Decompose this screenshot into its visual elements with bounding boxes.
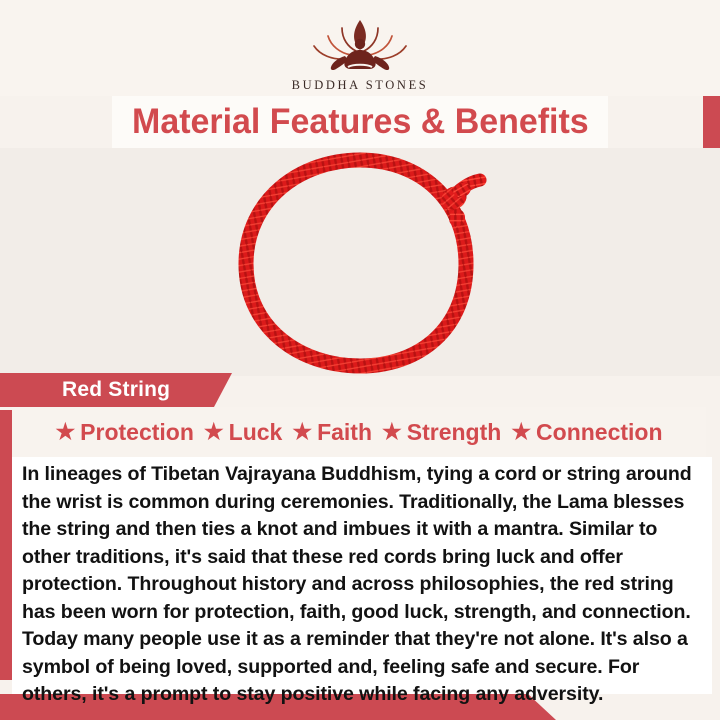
infographic-page: BUDDHA STONES Material Features & Benefi…: [0, 0, 720, 720]
ribbon-label: Red String: [62, 378, 170, 402]
description-text: In lineages of Tibetan Vajrayana Buddhis…: [22, 461, 700, 709]
red-braided-string-bracelet: [224, 152, 496, 374]
benefit-item: ★ Strength: [382, 419, 501, 446]
lotus-meditation-icon: [298, 14, 422, 76]
star-icon: ★: [204, 421, 224, 443]
star-icon: ★: [292, 421, 312, 443]
star-icon: ★: [55, 421, 75, 443]
title-banner: Material Features & Benefits: [112, 96, 608, 148]
benefit-item: ★ Faith: [292, 419, 372, 446]
left-thin-red-bar: [0, 410, 12, 680]
benefit-label: Protection: [80, 419, 194, 446]
benefit-label: Faith: [317, 419, 372, 446]
benefit-item: ★ Protection: [55, 419, 193, 446]
benefits-strip: ★ Protection ★ Luck ★ Faith ★ Strength ★…: [12, 407, 706, 457]
star-icon: ★: [511, 421, 531, 443]
benefit-label: Connection: [536, 419, 663, 446]
brand-header: BUDDHA STONES: [0, 0, 720, 96]
description-box: In lineages of Tibetan Vajrayana Buddhis…: [12, 457, 712, 694]
brand-name: BUDDHA STONES: [285, 78, 435, 93]
product-image-band: [0, 148, 720, 376]
page-title: Material Features & Benefits: [132, 102, 589, 142]
benefit-item: ★ Luck: [204, 419, 282, 446]
red-string-ribbon: Red String: [0, 373, 232, 407]
star-icon: ★: [382, 421, 402, 443]
benefit-item: ★ Connection: [511, 419, 662, 446]
benefit-label: Luck: [229, 419, 283, 446]
benefit-label: Strength: [407, 419, 502, 446]
brand-logo: BUDDHA STONES: [285, 14, 435, 93]
